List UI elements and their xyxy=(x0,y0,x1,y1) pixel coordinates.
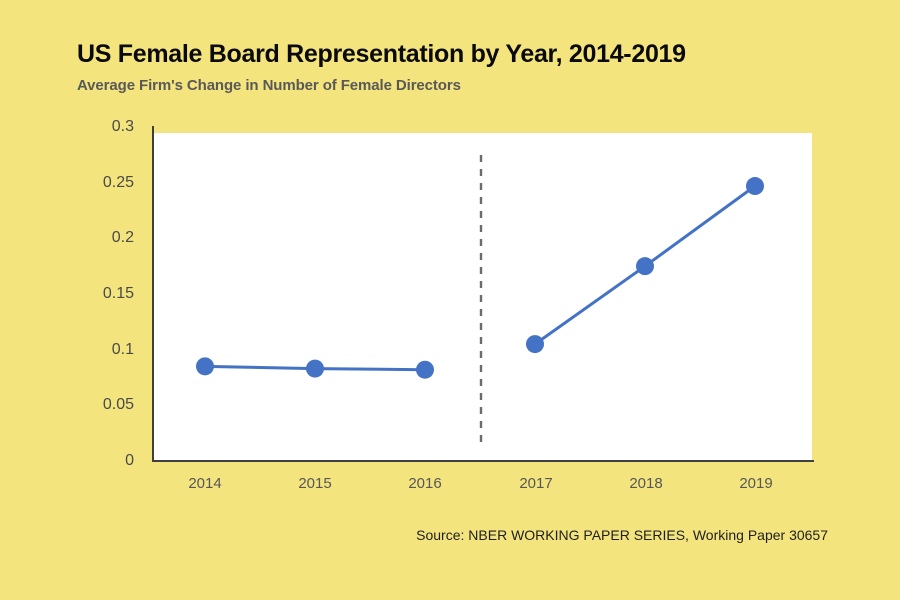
data-point-marker[interactable] xyxy=(416,361,434,379)
data-point-marker[interactable] xyxy=(306,360,324,378)
data-point-marker[interactable] xyxy=(746,177,764,195)
data-series-layer xyxy=(0,0,900,600)
chart-canvas: US Female Board Representation by Year, … xyxy=(0,0,900,600)
line-series-group xyxy=(196,177,764,379)
data-point-marker[interactable] xyxy=(636,257,654,275)
data-point-marker[interactable] xyxy=(526,335,544,353)
source-note: Source: NBER WORKING PAPER SERIES, Worki… xyxy=(416,527,828,543)
data-point-marker[interactable] xyxy=(196,357,214,375)
